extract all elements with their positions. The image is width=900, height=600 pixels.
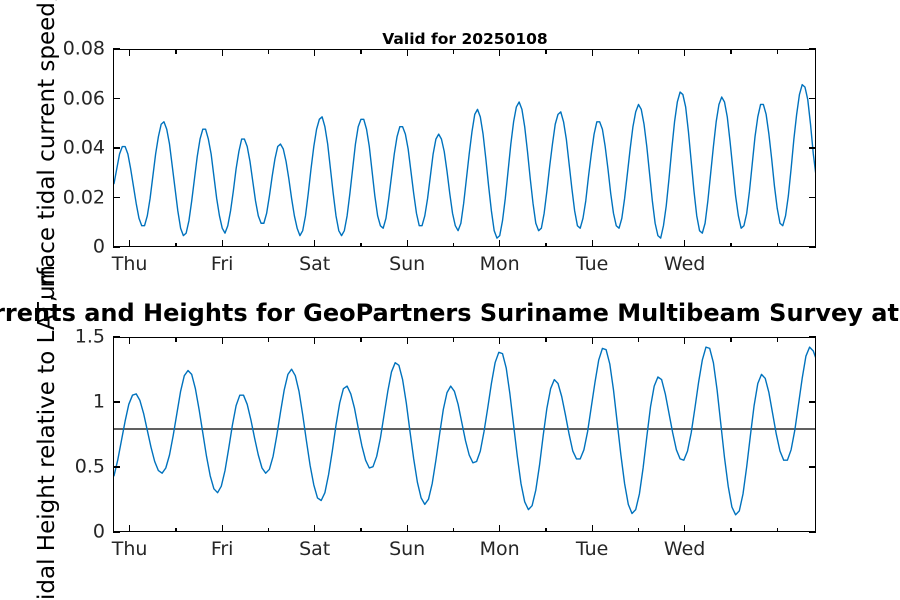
x-minor-tick <box>268 243 269 248</box>
x-minor-tick <box>730 337 731 342</box>
x-minor-tick <box>730 243 731 248</box>
x-minor-tick <box>730 528 731 533</box>
x-tick-label: Sat <box>299 255 330 274</box>
y-tick <box>809 147 816 148</box>
x-tick-label: Sun <box>389 540 425 559</box>
y-tick-label: 0.08 <box>3 40 105 59</box>
x-tick <box>129 240 130 247</box>
x-tick-label: Sun <box>389 255 425 274</box>
x-tick <box>684 49 685 56</box>
x-tick-label: Thu <box>112 540 148 559</box>
x-minor-tick <box>777 337 778 342</box>
x-minor-tick <box>730 49 731 54</box>
x-minor-tick <box>175 243 176 248</box>
y-tick <box>809 531 816 532</box>
x-minor-tick <box>268 337 269 342</box>
y-tick <box>113 336 120 337</box>
y-tick <box>809 98 816 99</box>
y-tick <box>113 197 120 198</box>
x-tick <box>222 240 223 247</box>
x-tick-label: Fri <box>211 540 234 559</box>
x-tick <box>592 49 593 56</box>
x-tick <box>314 525 315 532</box>
x-tick <box>592 337 593 344</box>
x-tick <box>129 337 130 344</box>
x-tick <box>684 337 685 344</box>
y-tick <box>113 48 120 49</box>
x-minor-tick <box>453 337 454 342</box>
x-tick-label: Wed <box>664 540 705 559</box>
x-tick-label: Mon <box>480 540 520 559</box>
y-tick <box>113 98 120 99</box>
y-tick-label: 1 <box>3 393 105 412</box>
x-tick <box>314 49 315 56</box>
y-tick <box>809 197 816 198</box>
y-tick <box>809 48 816 49</box>
series-line-tidal-height <box>114 338 816 532</box>
x-minor-tick <box>545 243 546 248</box>
x-tick <box>222 525 223 532</box>
x-minor-tick <box>638 337 639 342</box>
x-tick <box>684 240 685 247</box>
x-minor-tick <box>360 243 361 248</box>
x-tick-label: Sat <box>299 540 330 559</box>
x-tick-label: Thu <box>112 255 148 274</box>
y-tick-label: 1.5 <box>3 328 105 347</box>
x-minor-tick <box>777 243 778 248</box>
y-tick <box>113 466 120 467</box>
x-minor-tick <box>453 528 454 533</box>
x-minor-tick <box>360 337 361 342</box>
y-tick <box>809 246 816 247</box>
x-tick <box>314 240 315 247</box>
x-tick-label: Fri <box>211 255 234 274</box>
x-tick-label: Wed <box>664 255 705 274</box>
y-tick <box>113 147 120 148</box>
x-minor-tick <box>175 49 176 54</box>
x-tick <box>592 525 593 532</box>
series-line-current-speed <box>114 50 816 247</box>
y-tick <box>113 531 120 532</box>
y-tick <box>809 336 816 337</box>
x-minor-tick <box>268 528 269 533</box>
y-tick-label: 0 <box>3 523 105 542</box>
x-tick <box>592 240 593 247</box>
x-minor-tick <box>175 337 176 342</box>
x-tick <box>684 525 685 532</box>
y-tick <box>113 401 120 402</box>
x-minor-tick <box>268 49 269 54</box>
x-minor-tick <box>777 528 778 533</box>
x-minor-tick <box>545 528 546 533</box>
y-tick-label: 0 <box>3 238 105 257</box>
x-minor-tick <box>777 49 778 54</box>
y-tick <box>113 246 120 247</box>
plot-area-current-speed <box>113 49 816 247</box>
x-tick-label: Tue <box>576 540 608 559</box>
x-minor-tick <box>175 528 176 533</box>
x-tick <box>314 337 315 344</box>
y-tick-label: 0.06 <box>3 89 105 108</box>
y-tick-label: 0.5 <box>3 458 105 477</box>
x-tick <box>499 337 500 344</box>
x-tick-label: Tue <box>576 255 608 274</box>
x-minor-tick <box>360 49 361 54</box>
x-tick <box>407 49 408 56</box>
x-tick-label: Mon <box>480 255 520 274</box>
y-tick <box>809 466 816 467</box>
x-minor-tick <box>360 528 361 533</box>
x-minor-tick <box>638 49 639 54</box>
y-tick-label: 0.04 <box>3 139 105 158</box>
x-minor-tick <box>545 49 546 54</box>
y-tick-label: 0.02 <box>3 188 105 207</box>
figure-canvas: urface tidal current speed, kn Valid for… <box>0 0 900 600</box>
x-tick <box>499 525 500 532</box>
x-tick <box>129 525 130 532</box>
y-axis-label-tidal-height: idal Height relative to LAT, m <box>34 265 60 600</box>
plot-area-tidal-height <box>113 337 816 532</box>
x-tick <box>499 240 500 247</box>
x-tick <box>129 49 130 56</box>
x-tick <box>407 525 408 532</box>
x-tick <box>222 337 223 344</box>
x-tick <box>407 337 408 344</box>
chart-title-valid-for: Valid for 20250108 <box>382 30 547 48</box>
figure-supertitle: urrents and Heights for GeoPartners Suri… <box>0 299 900 327</box>
x-minor-tick <box>453 49 454 54</box>
x-minor-tick <box>545 337 546 342</box>
x-minor-tick <box>638 528 639 533</box>
x-minor-tick <box>638 243 639 248</box>
y-tick <box>809 401 816 402</box>
x-tick <box>407 240 408 247</box>
x-tick <box>222 49 223 56</box>
x-minor-tick <box>453 243 454 248</box>
x-tick <box>499 49 500 56</box>
